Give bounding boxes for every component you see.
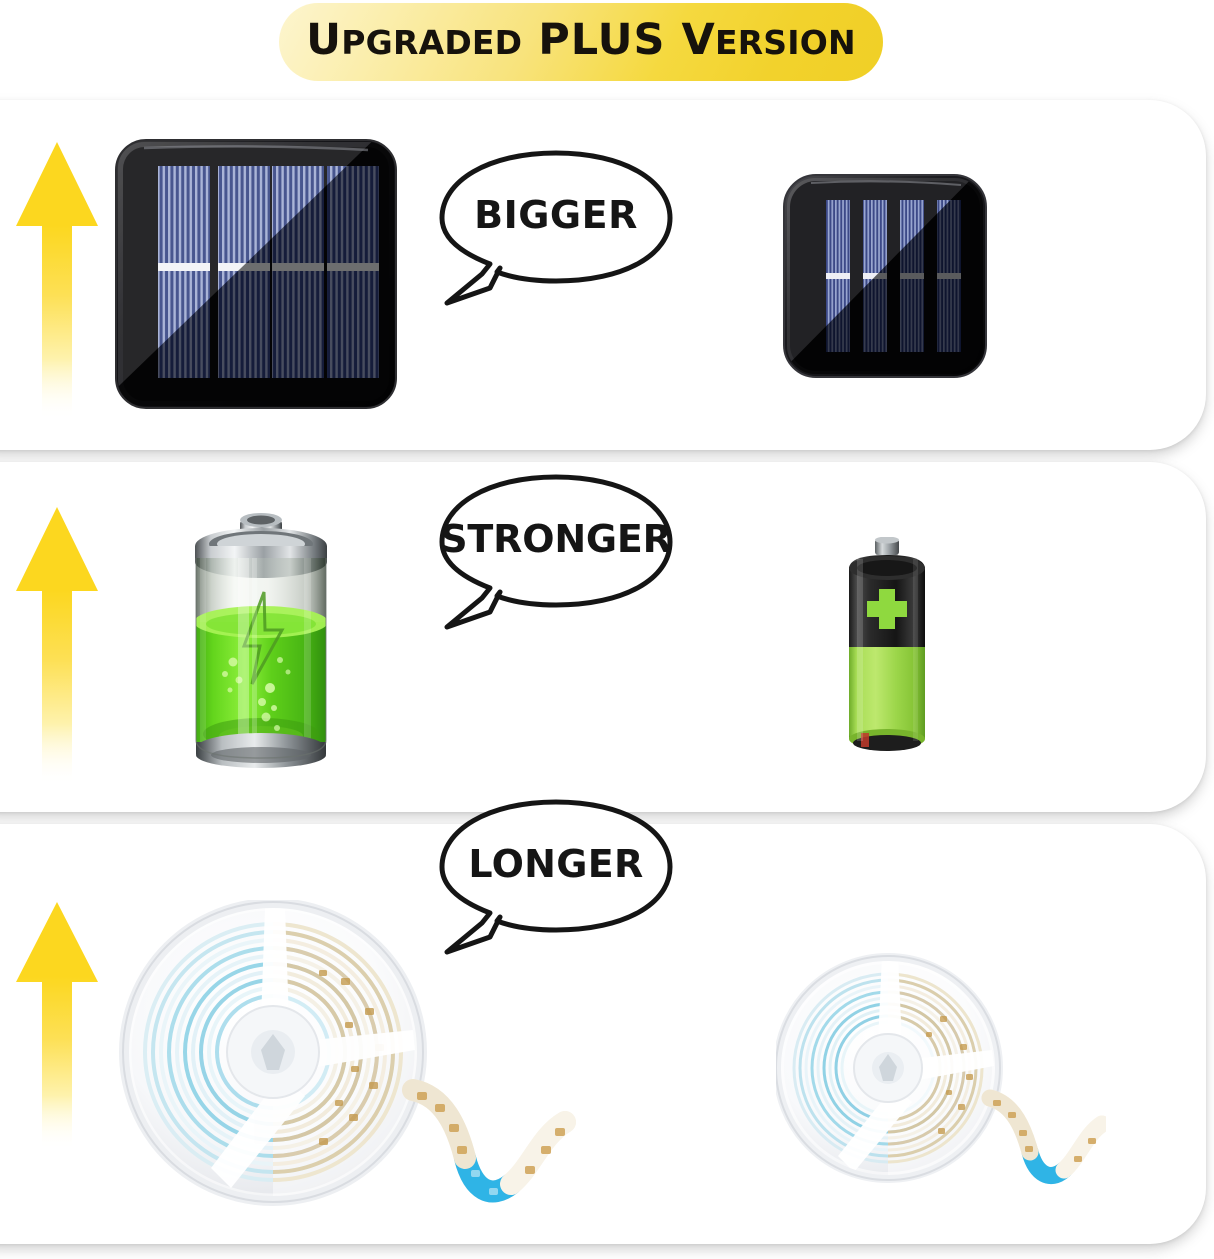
infographic-canvas: UPGRADED PLUS VERSION (0, 0, 1214, 1259)
banner-title-part-0: U (306, 15, 341, 65)
upgrade-arrow-bigger (14, 140, 100, 420)
banner-title-part-1: PGRADED (341, 23, 522, 62)
speech-bubble-shape (437, 148, 675, 308)
upgrade-arrow-longer (14, 900, 100, 1150)
arrow-up-icon (14, 505, 100, 785)
banner-title-part-3: V (681, 15, 714, 65)
small-battery (843, 537, 931, 753)
large-led-strip-reel (113, 900, 588, 1230)
arrow-up-icon (14, 140, 100, 420)
banner-title: UPGRADED PLUS VERSION (306, 19, 856, 65)
arrow-up-icon (14, 900, 100, 1150)
banner-title-part-2: PLUS (522, 15, 681, 65)
upgraded-plus-version-banner: UPGRADED PLUS VERSION (279, 3, 883, 81)
small-solar-panel (781, 172, 989, 380)
large-solar-panel (114, 138, 398, 410)
speech-bubble-bigger: BIGGER (437, 148, 675, 308)
small-led-strip-reel (776, 950, 1106, 1200)
upgrade-arrow-stronger (14, 505, 100, 785)
banner-title-part-4: ERSION (715, 23, 856, 62)
speech-bubble-shape (437, 472, 675, 632)
speech-bubble-stronger: STRONGER (437, 472, 675, 632)
large-battery (178, 512, 344, 768)
